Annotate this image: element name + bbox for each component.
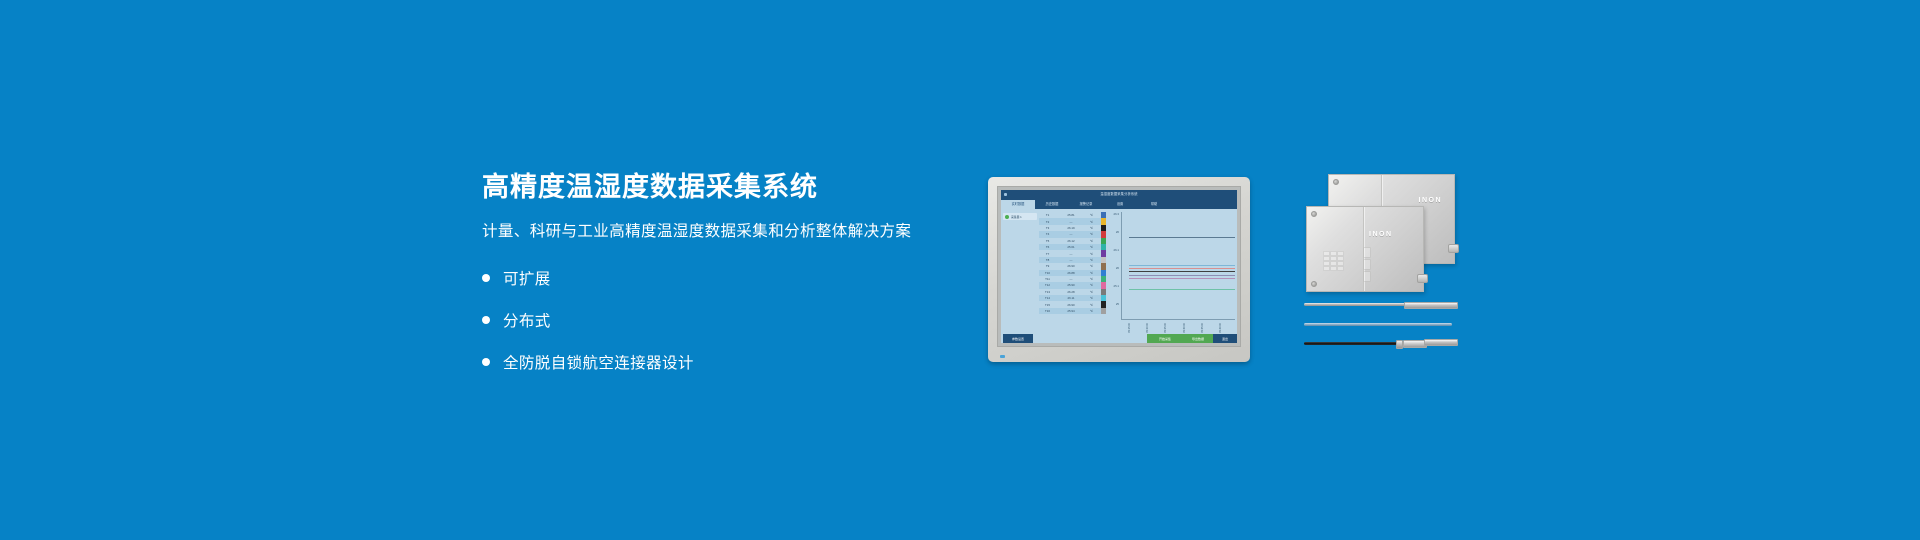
module-screw-icon (1311, 281, 1317, 287)
table-cell: ℃ (1086, 258, 1097, 262)
exit-button[interactable]: 退出 (1213, 334, 1237, 343)
monitor-screen: 温湿度数据采集分析系统 实时数据 历史数据 报警记录 设置 帮助 采集器 1 (1001, 190, 1237, 343)
module-connector (1417, 274, 1428, 283)
table-cell: 25.90 (1056, 283, 1086, 287)
x-axis-tick: 09:40:00 (1219, 323, 1222, 333)
monitor-foot (988, 347, 1250, 362)
chart-series-line (1129, 278, 1235, 279)
table-cell: ℃ (1086, 271, 1097, 275)
page-subtitle: 计量、科研与工业高精度温湿度数据采集和分析整体解决方案 (482, 203, 952, 241)
x-axis-tick: 09:20:00 (1146, 323, 1149, 333)
table-cell: T10 (1039, 271, 1056, 275)
button-bar-spacer (1033, 334, 1147, 343)
chart-y-axis: 26.32626.12625.125 (1108, 212, 1120, 320)
app-title-bar: 温湿度数据采集分析系统 (1001, 190, 1237, 199)
table-cell: 26.88 (1056, 271, 1086, 275)
table-cell: 26.12 (1056, 239, 1086, 243)
table-cell: 25.61 (1056, 245, 1086, 249)
table-cell: 26.28 (1056, 290, 1086, 294)
tab-alarms[interactable]: 报警记录 (1069, 200, 1103, 209)
feature-label: 分布式 (503, 309, 551, 331)
monitor-inner-frame: 温湿度数据采集分析系统 实时数据 历史数据 报警记录 设置 帮助 采集器 1 (997, 186, 1241, 347)
start-capture-button[interactable]: 开始采集 (1147, 334, 1183, 343)
sidebar-item-device[interactable]: 采集器 1 (1003, 213, 1037, 220)
chart-series-line (1129, 275, 1235, 276)
table-cell: ℃ (1086, 277, 1097, 281)
table-cell: ℃ (1086, 296, 1097, 300)
table-cell: ℃ (1086, 309, 1097, 313)
module-label-etching (1323, 251, 1357, 277)
table-cell: ℃ (1086, 290, 1097, 294)
tab-realtime[interactable]: 实时数据 (1001, 200, 1035, 209)
chart-series-line (1129, 289, 1235, 290)
table-cell: ℃ (1086, 283, 1097, 287)
table-cell: T2 (1039, 220, 1056, 224)
table-cell: 25.94 (1056, 309, 1086, 313)
table-cell: T1 (1039, 213, 1056, 217)
table-cell: 25.81 (1056, 213, 1086, 217)
list-item: 可扩展 (482, 267, 952, 289)
y-axis-tick: 25 (1116, 302, 1119, 306)
table-cell: T8 (1039, 258, 1056, 262)
y-axis-tick: 26.1 (1114, 248, 1119, 252)
table-cell: ℃ (1086, 213, 1097, 217)
table-cell: T9 (1039, 264, 1056, 268)
tab-settings[interactable]: 设置 (1103, 200, 1137, 209)
chart-series-line (1129, 271, 1235, 272)
tab-bar: 实时数据 历史数据 报警记录 设置 帮助 (1001, 199, 1237, 209)
table-cell: ℃ (1086, 252, 1097, 256)
y-axis-tick: 26 (1116, 230, 1119, 234)
tab-history[interactable]: 历史数据 (1035, 200, 1069, 209)
module-connector (1448, 244, 1459, 253)
brand-logo: INON (1419, 197, 1443, 204)
module-screw-icon (1333, 179, 1339, 185)
table-cell: T13 (1039, 290, 1056, 294)
window-title: 温湿度数据采集分析系统 (1001, 190, 1237, 199)
table-cell: ℃ (1086, 220, 1097, 224)
table-cell: 26.11 (1056, 296, 1086, 300)
chart-plot-area (1121, 212, 1235, 320)
device-online-icon (1005, 215, 1009, 219)
page-title: 高精度温湿度数据采集系统 (482, 172, 952, 203)
table-cell: T4 (1039, 232, 1056, 236)
table-cell: ℃ (1086, 303, 1097, 307)
table-cell: 26.90 (1056, 303, 1086, 307)
acquisition-module-front: INON (1306, 206, 1424, 292)
chart-x-axis: 09:15:0009:20:0009:25:0009:30:0009:35:00… (1121, 320, 1235, 333)
chart-series-line (1129, 265, 1235, 266)
x-axis-tick: 09:15:00 (1128, 323, 1131, 333)
table-cell: T15 (1039, 303, 1056, 307)
app-work-area: 采集器 1 T125.81℃T2---℃T326.19℃T4---℃T526.1… (1001, 209, 1237, 334)
table-cell: T3 (1039, 226, 1056, 230)
power-led-icon (1000, 355, 1005, 358)
table-cell: ℃ (1086, 239, 1097, 243)
bullet-dot-icon (482, 274, 490, 282)
channel-table: T125.81℃T2---℃T326.19℃T4---℃T526.12℃T625… (1039, 209, 1101, 334)
table-cell: T11 (1039, 277, 1056, 281)
hardware-product-image: INON INON (1300, 170, 1500, 360)
table-cell: ℃ (1086, 245, 1097, 249)
settings-button[interactable]: 参数设置 (1003, 334, 1033, 343)
table-cell: --- (1056, 232, 1086, 236)
x-axis-tick: 09:30:00 (1183, 323, 1186, 333)
bullet-dot-icon (482, 316, 490, 324)
table-cell: T16 (1039, 309, 1056, 313)
sidebar-item-label: 采集器 1 (1011, 215, 1022, 219)
table-cell: ℃ (1086, 226, 1097, 230)
list-item: 分布式 (482, 309, 952, 331)
app-button-bar: 参数设置 开始采集 导出数据 退出 (1001, 334, 1237, 343)
table-cell: --- (1056, 220, 1086, 224)
table-cell: T6 (1039, 245, 1056, 249)
bullet-dot-icon (482, 358, 490, 366)
module-port-etching (1363, 247, 1377, 281)
x-axis-tick: 09:35:00 (1201, 323, 1204, 333)
export-data-button[interactable]: 导出数据 (1183, 334, 1213, 343)
module-screw-icon (1311, 211, 1317, 217)
table-cell: ℃ (1086, 264, 1097, 268)
table-cell: --- (1056, 252, 1086, 256)
feature-label: 全防脱自锁航空连接器设计 (503, 351, 694, 373)
brand-logo: INON (1369, 231, 1393, 238)
chart-series-line (1129, 237, 1235, 238)
y-axis-tick: 26.3 (1114, 212, 1119, 216)
table-cell: 26.90 (1056, 264, 1086, 268)
table-cell: T12 (1039, 283, 1056, 287)
chart-series-line (1129, 268, 1235, 269)
table-cell: ℃ (1086, 232, 1097, 236)
table-cell: --- (1056, 277, 1086, 281)
table-cell: T5 (1039, 239, 1056, 243)
monitor-product-image: 温湿度数据采集分析系统 实时数据 历史数据 报警记录 设置 帮助 采集器 1 (988, 177, 1250, 362)
y-axis-tick: 25.1 (1114, 284, 1119, 288)
y-axis-tick: 26 (1116, 266, 1119, 270)
feature-list: 可扩展 分布式 全防脱自锁航空连接器设计 (482, 241, 952, 373)
marketing-copy: 高精度温湿度数据采集系统 计量、科研与工业高精度温湿度数据采集和分析整体解决方案… (482, 172, 952, 373)
feature-label: 可扩展 (503, 267, 551, 289)
trend-chart: 26.32626.12625.125 09:15:0009:20:0009:25… (1106, 209, 1237, 334)
table-cell: T7 (1039, 252, 1056, 256)
x-axis-tick: 09:25:00 (1164, 323, 1167, 333)
table-cell: --- (1056, 258, 1086, 262)
table-cell: 26.19 (1056, 226, 1086, 230)
table-cell: T14 (1039, 296, 1056, 300)
table-row[interactable]: T1625.94℃ (1039, 308, 1101, 314)
product-banner: 高精度温湿度数据采集系统 计量、科研与工业高精度温湿度数据采集和分析整体解决方案… (0, 0, 1920, 540)
tab-help[interactable]: 帮助 (1137, 200, 1171, 209)
device-sidebar: 采集器 1 (1001, 209, 1039, 334)
list-item: 全防脱自锁航空连接器设计 (482, 351, 952, 373)
